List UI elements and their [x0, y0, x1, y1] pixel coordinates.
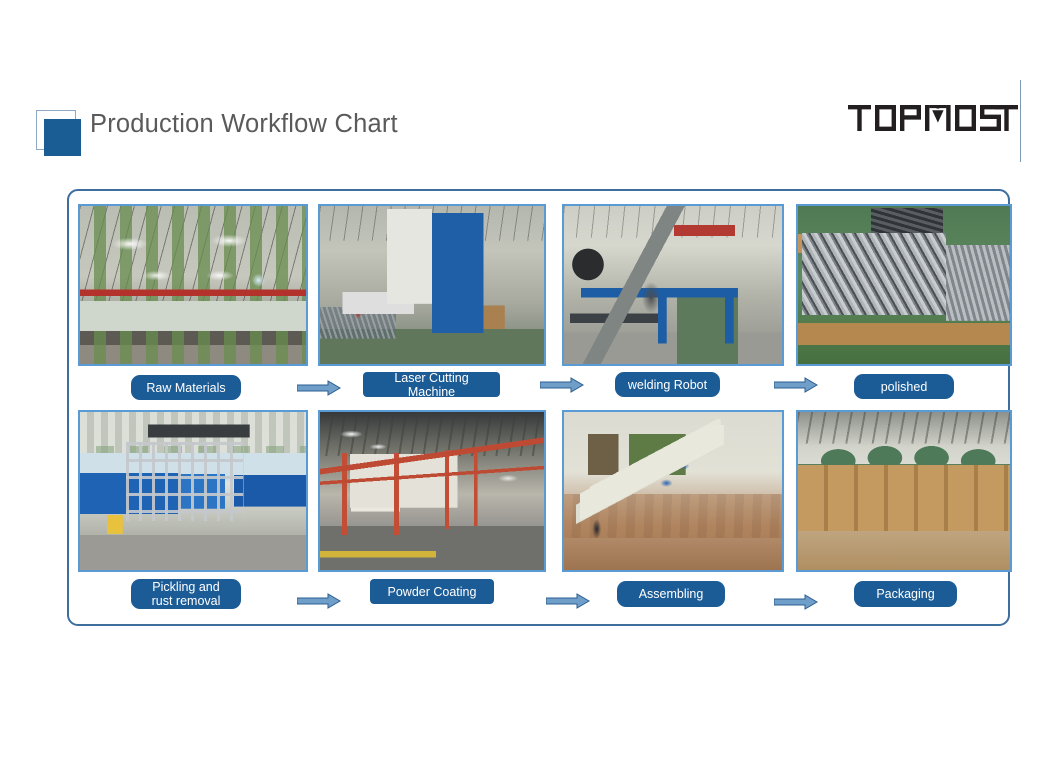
page-title: Production Workflow Chart	[90, 110, 398, 139]
step-label-packaging[interactable]: Packaging	[854, 581, 957, 607]
step-label-powder-coating[interactable]: Powder Coating	[370, 579, 494, 604]
workflow-row-2: Pickling and rust removal Powder Coating	[69, 401, 1012, 609]
step-label-pickling-and-rust-removal[interactable]: Pickling and rust removal	[131, 579, 241, 609]
packaging-cartons-photo	[796, 410, 1012, 572]
workflow-step-laser-cutting[interactable]: Laser Cutting Machine	[313, 195, 551, 403]
topmost-logo	[848, 103, 1018, 137]
factory-hall-raw-materials-photo	[78, 204, 308, 366]
workflow-step-assembling[interactable]: Assembling	[557, 401, 789, 609]
step-label-welding-robot[interactable]: welding Robot	[615, 372, 720, 397]
polished-parts-photo	[796, 204, 1012, 366]
workflow-step-packaging[interactable]: Packaging	[791, 401, 1013, 609]
pickling-tanks-photo	[78, 410, 308, 572]
workflow-step-powder-coating[interactable]: Powder Coating	[313, 401, 551, 609]
workflow-row-1: Raw Materials Laser Cutting Machine	[69, 195, 1012, 403]
header-divider	[1020, 80, 1021, 162]
workflow-step-pickling[interactable]: Pickling and rust removal	[73, 401, 313, 609]
workflow-step-welding-robot[interactable]: welding Robot	[557, 195, 789, 403]
powder-coating-line-photo	[318, 410, 546, 572]
laser-cutting-machine-photo	[318, 204, 546, 366]
workflow-frame: Raw Materials Laser Cutting Machine	[67, 189, 1010, 626]
step-label-raw-materials[interactable]: Raw Materials	[131, 375, 241, 400]
step-label-laser-cutting-machine[interactable]: Laser Cutting Machine	[363, 372, 500, 397]
assembling-benches-photo	[562, 410, 784, 572]
step-label-polished[interactable]: polished	[854, 374, 954, 399]
page-header: Production Workflow Chart	[0, 0, 1060, 180]
step-label-assembling[interactable]: Assembling	[617, 581, 725, 607]
welding-robot-photo	[562, 204, 784, 366]
workflow-step-polished[interactable]: polished	[791, 195, 1013, 403]
title-decoration-square-filled-icon	[44, 119, 81, 156]
workflow-step-raw-materials[interactable]: Raw Materials	[73, 195, 313, 403]
